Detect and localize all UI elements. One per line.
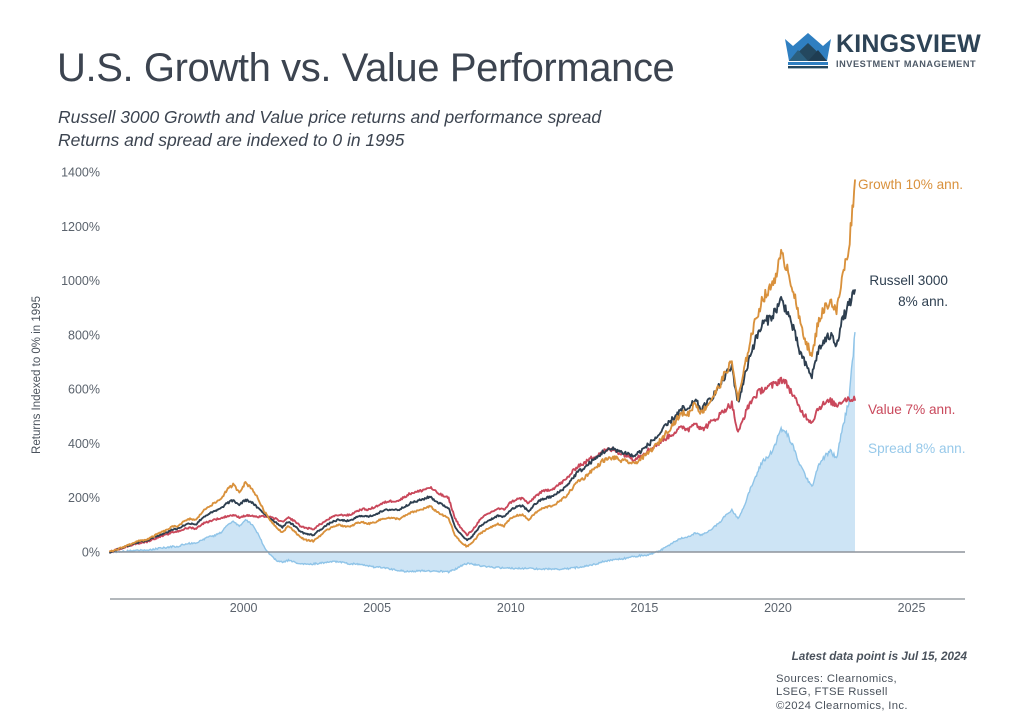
sources-note: Sources: Clearnomics, LSEG, FTSE Russell… xyxy=(776,673,908,713)
series-label: Spread 8% ann. xyxy=(868,441,966,456)
sources-line-1: Sources: Clearnomics, xyxy=(776,673,908,686)
x-axis-tick: 2015 xyxy=(630,601,658,615)
x-axis-tick-labels: 200020052010201520202025 xyxy=(230,601,926,615)
x-axis-tick: 2000 xyxy=(230,601,258,615)
series-line-growth xyxy=(110,180,855,551)
y-axis-tick: 0% xyxy=(82,546,100,560)
y-axis-tick: 1200% xyxy=(61,220,100,234)
series-labels-group: Growth 10% ann.Russell 30008% ann.Value … xyxy=(858,177,966,456)
x-axis-tick: 2025 xyxy=(898,601,926,615)
y-axis-tick: 200% xyxy=(68,491,100,505)
sources-line-2: LSEG, FTSE Russell xyxy=(776,686,908,699)
x-axis-tick: 2010 xyxy=(497,601,525,615)
chart-plot-region: 0%200%400%600%800%1000%1200%1400% 200020… xyxy=(0,0,1024,721)
series-label: Russell 3000 xyxy=(869,273,948,288)
y-axis-tick: 1000% xyxy=(61,274,100,288)
series-label: Growth 10% ann. xyxy=(858,177,963,192)
y-axis-tick: 1400% xyxy=(61,166,100,180)
line-series-group xyxy=(110,180,855,553)
y-axis-tick-labels: 0%200%400%600%800%1000%1200%1400% xyxy=(61,166,100,560)
sources-line-3: ©2024 Clearnomics, Inc. xyxy=(776,700,908,713)
x-axis-tick: 2005 xyxy=(363,601,391,615)
x-axis-tick: 2020 xyxy=(764,601,792,615)
y-axis-tick: 400% xyxy=(68,437,100,451)
y-axis-title: Returns Indexed to 0% in 1995 xyxy=(31,296,43,454)
y-axis-tick: 800% xyxy=(68,328,100,342)
y-axis-tick: 600% xyxy=(68,383,100,397)
series-label: 8% ann. xyxy=(898,294,948,309)
series-label: Value 7% ann. xyxy=(868,402,955,417)
latest-data-note: Latest data point is Jul 15, 2024 xyxy=(792,650,967,663)
